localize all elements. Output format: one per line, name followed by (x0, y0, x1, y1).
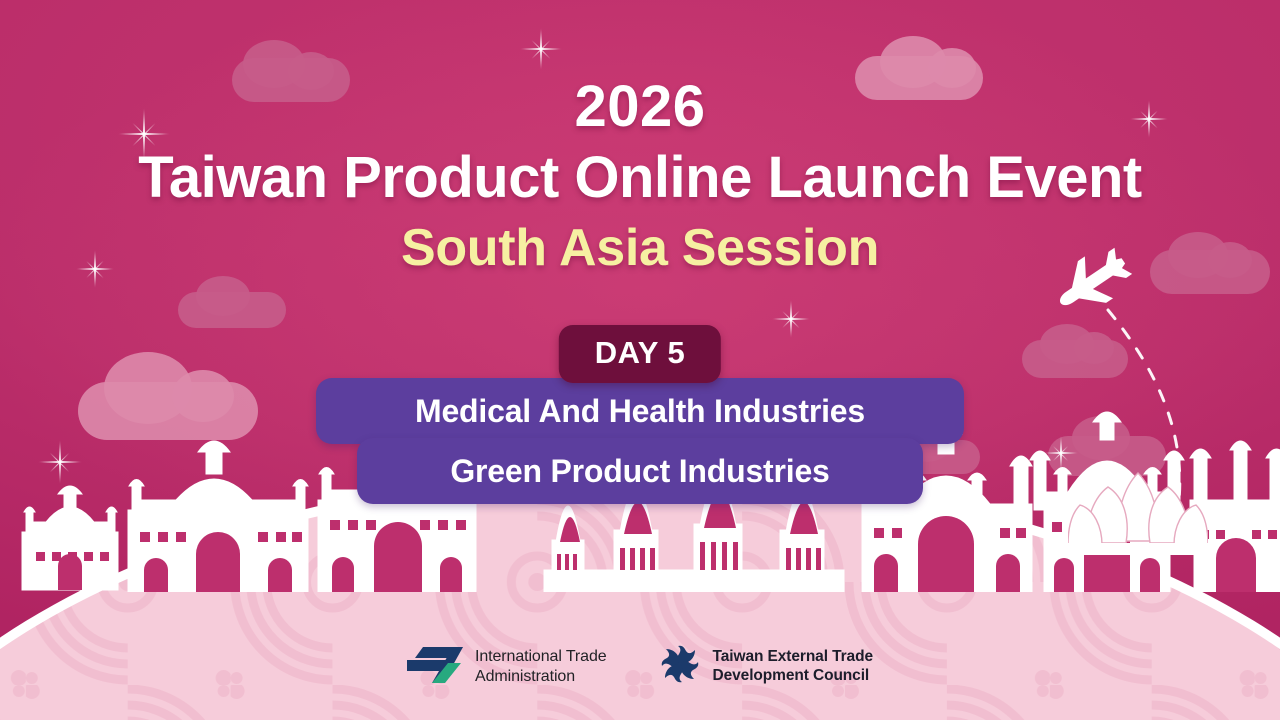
day-badge: DAY 5 (559, 325, 721, 383)
event-subtitle: South Asia Session (0, 221, 1280, 276)
ita-chevron-icon (407, 641, 465, 692)
taitra-flower-icon (657, 641, 703, 692)
page-title: Taiwan Product Online Launch Event (0, 148, 1280, 209)
headline-block: 2026 Taiwan Product Online Launch Event … (0, 78, 1280, 275)
industry-row: Green Product Industries (357, 438, 923, 504)
industry-row: Medical And Health Industries (316, 378, 964, 444)
logo-international-trade-administration: International Trade Administration (407, 641, 607, 692)
logo-taitra: Taiwan External Trade Development Counci… (657, 641, 873, 692)
ita-logo-label: International Trade Administration (475, 647, 607, 686)
logo-bar: International Trade Administration Taiwa… (0, 641, 1280, 692)
event-year: 2026 (0, 78, 1280, 136)
taitra-logo-label: Taiwan External Trade Development Counci… (713, 648, 873, 686)
event-banner: 2026 Taiwan Product Online Launch Event … (0, 0, 1280, 720)
industries-panel: Medical And Health Industries Green Prod… (0, 378, 1280, 504)
